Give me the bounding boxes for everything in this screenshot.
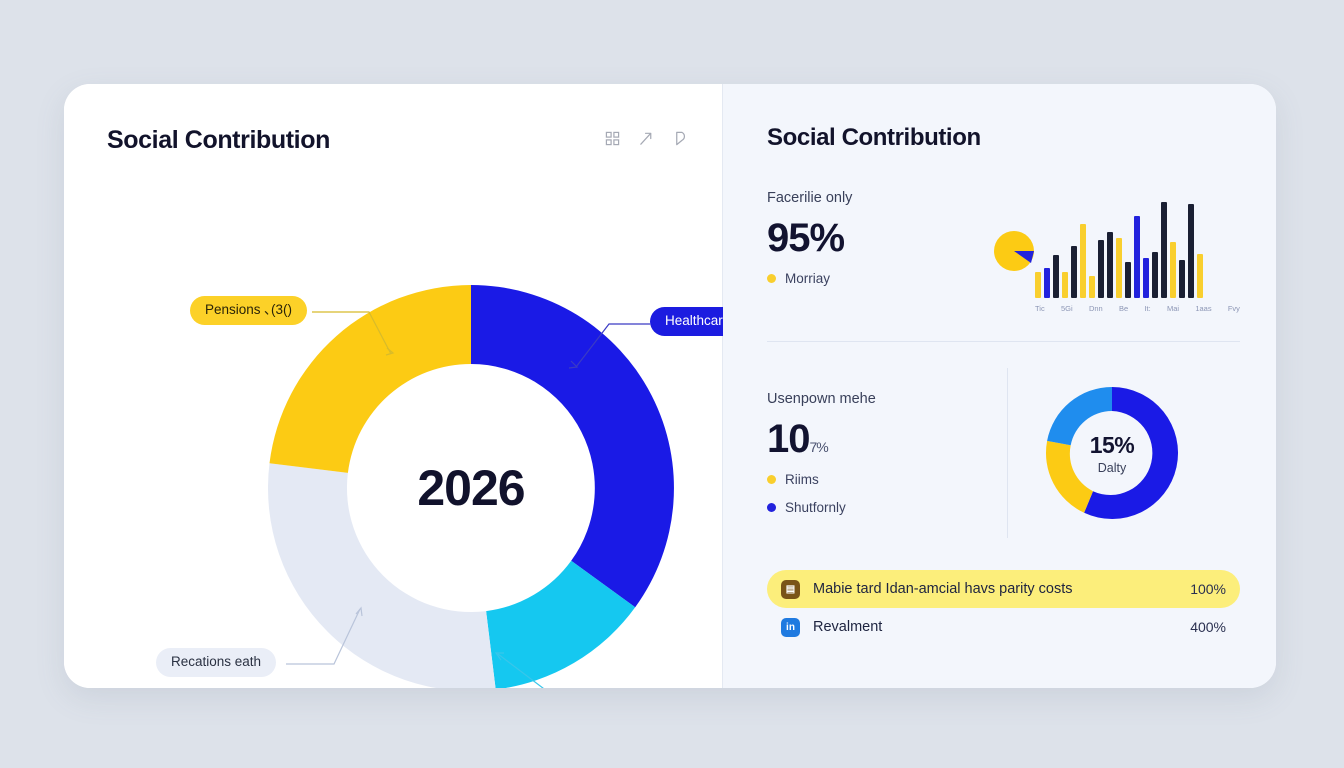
tick-label: It: <box>1144 304 1150 313</box>
bar <box>1089 276 1095 298</box>
bookmark-icon[interactable] <box>673 130 689 147</box>
page-title: Social Contribution <box>107 126 330 155</box>
donut-slice-healthcare[interactable] <box>471 285 674 607</box>
bar <box>1062 272 1068 298</box>
bar <box>1098 240 1104 298</box>
main-donut-chart: 2026 <box>266 278 676 688</box>
bottom-list: ▤ Mabie tard Idan-amcial havs parity cos… <box>767 570 1240 646</box>
tick-label: 5Gi <box>1061 304 1073 313</box>
dashboard-card: Social Contribution <box>64 84 1276 688</box>
bar <box>1044 268 1050 298</box>
donut2-center-label: Dalty <box>1098 461 1126 475</box>
toolbar <box>605 130 689 147</box>
bar <box>1188 204 1194 298</box>
list-item-value: 100% <box>1190 581 1226 597</box>
top-stat-caption: Facerilie only <box>767 190 989 206</box>
secondary-donut-chart: 15% Dalty <box>1042 383 1182 523</box>
mid-stat-number: 10 <box>767 417 810 461</box>
share-arrow-icon[interactable] <box>638 130 655 147</box>
top-stat-legend: Morriay <box>767 271 989 286</box>
bar <box>1035 272 1041 298</box>
bar-chart-plot <box>1035 190 1240 298</box>
bar <box>1125 262 1131 298</box>
tick-label: Be <box>1119 304 1128 313</box>
bar <box>1080 224 1086 298</box>
bar <box>1071 246 1077 298</box>
bar <box>1107 232 1113 298</box>
legend-label: Riims <box>785 472 819 487</box>
bar <box>1053 255 1059 298</box>
section-divider <box>767 341 1240 342</box>
donut-slice-recations[interactable] <box>268 463 496 688</box>
mid-stat-caption: Usenpown mehe <box>767 391 989 407</box>
tick-label: 1aas <box>1195 304 1211 313</box>
top-stat-section: Facerilie only 95% Morriay <box>767 190 1240 313</box>
tick-label: Tic <box>1035 304 1045 313</box>
legend-dot-icon <box>767 503 776 512</box>
bar <box>1143 258 1149 298</box>
legend-label: Shutfornly <box>785 500 846 515</box>
bar-chart: Tic 5Gi Dnn Be It: Mai 1aas Fvy <box>1035 190 1240 313</box>
list-item-label: Revalment <box>813 619 1174 635</box>
mid-stat-legend-1: Riims <box>767 472 989 487</box>
mid-stat-section: Usenpown mehe 107% Riims Shutfornly <box>767 368 1240 538</box>
list-item[interactable]: ▤ Mabie tard Idan-amcial havs parity cos… <box>767 570 1240 608</box>
bar-chart-tick-labels: Tic 5Gi Dnn Be It: Mai 1aas Fvy <box>1035 304 1240 313</box>
bar <box>1134 216 1140 298</box>
mini-pie-chart <box>993 230 1035 277</box>
callout-pensions[interactable]: Pensions ､(3() <box>190 296 307 325</box>
legend-dot-icon <box>767 274 776 283</box>
app-icon-amber-icon: ▤ <box>781 580 800 599</box>
mid-stat-suffix: 7% <box>810 439 828 455</box>
legend-dot-icon <box>767 475 776 484</box>
vertical-divider <box>1007 368 1008 538</box>
bar <box>1179 260 1185 298</box>
legend-label: Morriay <box>785 271 830 286</box>
list-item-value: 400% <box>1190 619 1226 635</box>
left-panel: Social Contribution <box>64 84 723 688</box>
mid-stat-legend-2: Shutfornly <box>767 500 989 515</box>
list-item[interactable]: in Revalment 400% <box>767 608 1240 646</box>
callout-recations[interactable]: Recations eath <box>156 648 276 677</box>
bar <box>1170 242 1176 298</box>
donut2-center-value: 15% <box>1090 432 1135 459</box>
bar <box>1152 252 1158 298</box>
top-stat-block: Facerilie only 95% Morriay <box>767 190 989 286</box>
bar <box>1161 202 1167 298</box>
top-stat-value: 95% <box>767 218 989 258</box>
bar <box>1116 238 1122 298</box>
right-panel-title: Social Contribution <box>767 124 1240 152</box>
app-icon-blue-icon: in <box>781 618 800 637</box>
mid-stat-block: Usenpown mehe 107% Riims Shutfornly <box>767 391 989 515</box>
tick-label: Fvy <box>1228 304 1240 313</box>
tick-label: Mai <box>1167 304 1179 313</box>
bar <box>1197 254 1203 298</box>
app-root: Social Contribution <box>0 0 1344 768</box>
tick-label: Dnn <box>1089 304 1103 313</box>
mid-stat-value: 107% <box>767 419 989 459</box>
right-panel: Social Contribution Facerilie only 95% M… <box>723 84 1276 688</box>
grid-icon[interactable] <box>605 131 620 146</box>
list-item-label: Mabie tard Idan-amcial havs parity costs <box>813 581 1174 597</box>
